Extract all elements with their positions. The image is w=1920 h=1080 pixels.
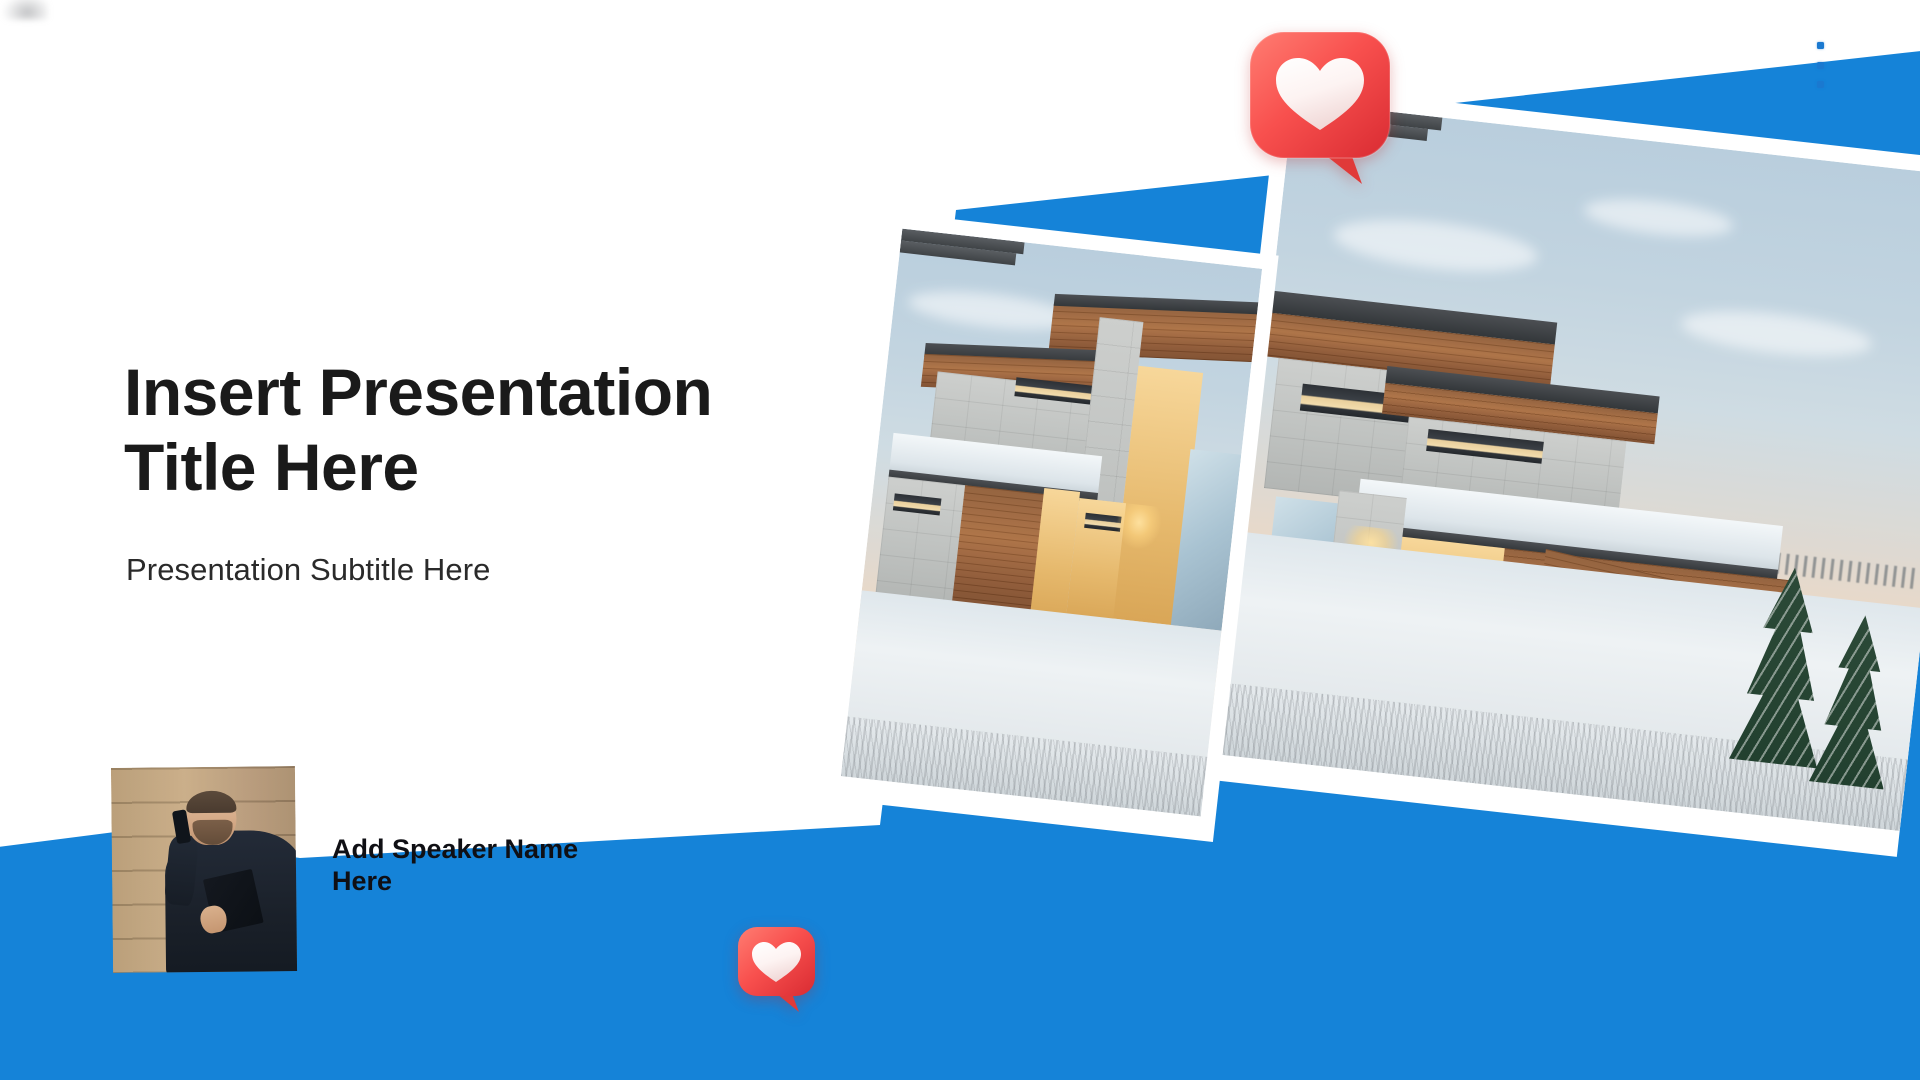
page-subtitle: Presentation Subtitle Here: [126, 552, 490, 588]
speaker-photo: [111, 766, 297, 973]
cursor-artifact: [2, 0, 48, 20]
photo-card-front[interactable]: [823, 212, 1278, 842]
photo-card-back-image: [1220, 101, 1920, 831]
speaker-name: Add Speaker Name Here: [332, 834, 662, 898]
presentation-slide: Insert Presentation Title Here Presentat…: [0, 0, 1920, 1080]
photo-card-front-image: [841, 229, 1262, 817]
heart-like-bubble-icon[interactable]: [733, 922, 825, 1022]
page-title: Insert Presentation Title Here: [124, 355, 924, 504]
heart-like-bubble-icon[interactable]: [1240, 22, 1410, 207]
kebab-dot: [1817, 42, 1824, 49]
kebab-menu-icon[interactable]: [1812, 42, 1828, 88]
kebab-dot: [1817, 81, 1824, 88]
kebab-dot: [1817, 62, 1824, 69]
